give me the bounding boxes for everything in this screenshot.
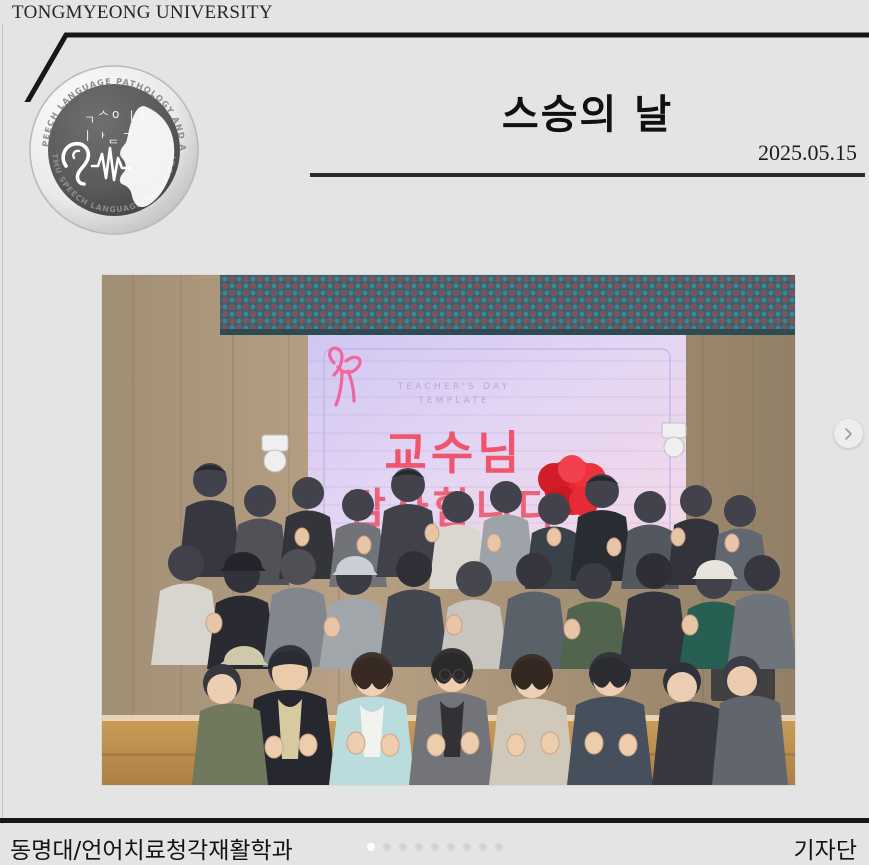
slide-root: TONGMYEONG UNIVERSITY DEPT. OF SPEECH LA…: [0, 0, 869, 865]
carousel-dot[interactable]: [415, 843, 423, 851]
carousel-dot[interactable]: [447, 843, 455, 851]
page-title: 스승의 날: [310, 82, 865, 140]
university-name: TONGMYEONG UNIVERSITY: [12, 2, 273, 24]
footer-divider-rule: [0, 818, 869, 823]
carousel-dot[interactable]: [367, 843, 375, 851]
svg-text:ᅡ: ᅡ: [94, 131, 105, 145]
event-date: 2025.05.15: [758, 140, 857, 166]
footer-department-label: 동명대/언어치료청각재활학과: [10, 831, 293, 865]
footer-team-label: 기자단: [794, 831, 857, 865]
carousel-dot[interactable]: [431, 843, 439, 851]
svg-text:ᄀ: ᄀ: [122, 131, 133, 145]
left-edge-rule: [2, 24, 3, 824]
event-photo[interactable]: TEACHER'S DAY TEMPLATE 교수님 감사합니다: [102, 275, 795, 785]
carousel-dot[interactable]: [463, 843, 471, 851]
carousel-dot[interactable]: [383, 843, 391, 851]
svg-text:ᆮ: ᆮ: [108, 131, 119, 145]
carousel-dot[interactable]: [479, 843, 487, 851]
carousel-next-button[interactable]: [834, 419, 863, 448]
svg-text:ㄱ: ㄱ: [84, 113, 95, 127]
carousel-dot[interactable]: [495, 843, 503, 851]
svg-text:ㅣ: ㅣ: [82, 129, 93, 143]
svg-text:ᄉ: ᄉ: [98, 109, 109, 123]
svg-text:ㅣ: ㅣ: [126, 109, 137, 123]
title-underline-rule: [310, 173, 865, 177]
carousel-dot[interactable]: [399, 843, 407, 851]
department-crest-logo: DEPT. OF SPEECH LANGUAGE PATHOLOGY AND A…: [26, 62, 202, 238]
chevron-right-icon: [843, 427, 854, 441]
svg-text:o: o: [112, 107, 119, 121]
event-photo-graphic: TEACHER'S DAY TEMPLATE 교수님 감사합니다: [102, 275, 795, 785]
svg-text:?: ?: [138, 113, 144, 127]
